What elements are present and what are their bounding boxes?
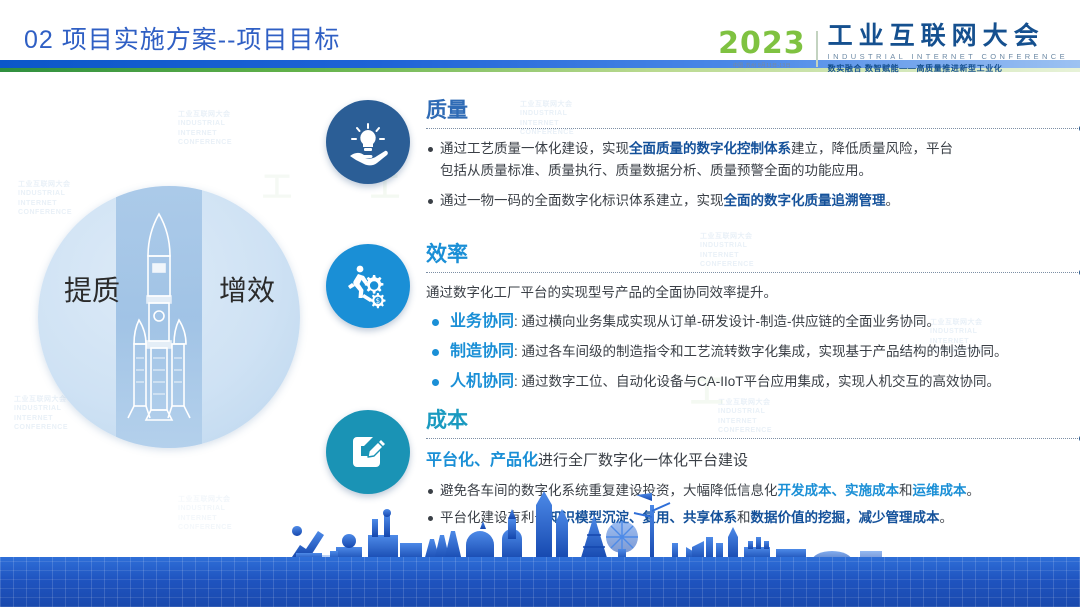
text-run: 包括从质量标准、质量执行、质量数据分析、质量预警全面的功能应用。 (440, 163, 872, 178)
item-sep: : (514, 344, 518, 359)
text-run: 通过一物一码的全面数字化标识体系建立，实现 (440, 193, 724, 208)
hero-label-right: 增效 (216, 274, 278, 308)
pencil-square-icon (326, 410, 410, 494)
slide-root: 工业互联网大会 INDUSTRIAL INTERNET CONFERENCE 工… (0, 0, 1080, 607)
list-item: 业务协同: 通过横向业务集成实现从订单-研发设计-制造-供应链的全面业务协同。 (426, 310, 1080, 334)
text-run-bold: 全面的数字化质量追溯管理 (724, 193, 886, 208)
logo-divider (816, 31, 818, 67)
hero-circle-bg: 提质 增效 (38, 186, 300, 448)
item-text: 通过各车间级的制造指令和工艺流转数字化集成，实现基于产品结构的制造协同。 (522, 344, 1008, 359)
bullet-continuation: 包括从质量标准、质量执行、质量数据分析、质量预警全面的功能应用。 (426, 161, 1080, 181)
page-title: 02 项目实施方案--项目目标 (24, 20, 340, 56)
logo-year-subtitle: 中国·苏州 9月11日-13日 (718, 62, 806, 69)
section-heading: 成本 (426, 410, 1080, 431)
logo-english-name: INDUSTRIAL INTERNET CONFERENCE (828, 52, 1068, 61)
item-sep: : (514, 314, 518, 329)
logo-slogan: 数实融合 数智赋能——高质量推进新型工业化 (828, 63, 1068, 74)
section-quality-body: 质量 通过工艺质量一体化建设，实现全面质量的数字化控制体系建立，降低质量风险，平… (426, 100, 1080, 213)
bullet-item: 通过工艺质量一体化建设，实现全面质量的数字化控制体系建立，降低质量风险，平台 (426, 139, 1080, 159)
item-lead: 人机协同 (450, 373, 514, 390)
item-text: 通过横向业务集成实现从订单-研发设计-制造-供应链的全面业务协同。 (522, 314, 941, 329)
svg-text:$: $ (376, 297, 380, 305)
text-run-bold: 平台化、产品化 (426, 452, 538, 469)
logo-chinese-name: 工业互联网大会 (828, 24, 1068, 49)
item-lead: 制造协同 (450, 343, 514, 360)
text-run-bold: 全面质量的数字化控制体系 (629, 141, 791, 156)
list-item: 人机协同: 通过数字工位、自动化设备与CA-IIoT平台应用集成，实现人机交互的… (426, 370, 1080, 394)
section-heading: 质量 (426, 100, 1080, 121)
bullet-item: 通过一物一码的全面数字化标识体系建立，实现全面的数字化质量追溯管理。 (426, 191, 1080, 211)
running-person-gears-icon: $ (326, 244, 410, 328)
section-heading: 效率 (426, 244, 1080, 265)
hero-circle: 提质 增效 (38, 186, 300, 448)
list-item: 制造协同: 通过各车间级的制造指令和工艺流转数字化集成，实现基于产品结构的制造协… (426, 340, 1080, 364)
item-lead: 业务协同 (450, 313, 514, 330)
hero-label-left: 提质 (62, 274, 122, 308)
text-run: 。 (886, 193, 900, 208)
logo-year: 2023 (718, 29, 806, 59)
text-run: 通过工艺质量一体化建设，实现 (440, 141, 629, 156)
text-run: 建立，降低质量风险，平台 (791, 141, 953, 156)
text-run: 进行全厂数字化一体化平台建设 (538, 452, 748, 469)
watermark: 工业互联网大会 INDUSTRIAL INTERNET CONFERENCE (178, 110, 232, 148)
conference-logo: 2023 中国·苏州 9月11日-13日 工业互联网大会 INDUSTRIAL … (718, 24, 1068, 74)
section-intro: 平台化、产品化进行全厂数字化一体化平台建设 (426, 449, 1080, 473)
hand-lightbulb-icon (326, 100, 410, 184)
item-sep: : (514, 374, 518, 389)
section-efficiency-body: 效率 通过数字化工厂平台的实现型号产品的全面协同效率提升。 业务协同: 通过横向… (426, 244, 1080, 396)
section-divider (426, 125, 1080, 133)
item-text: 通过数字工位、自动化设备与CA-IIoT平台应用集成，实现人机交互的高效协同。 (522, 374, 1001, 389)
rocket-icon (126, 208, 192, 426)
skyline-fade (0, 491, 300, 561)
ground-grid (0, 557, 1080, 607)
section-divider (426, 435, 1080, 443)
section-intro: 通过数字化工厂平台的实现型号产品的全面协同效率提升。 (426, 283, 1080, 303)
section-divider (426, 269, 1080, 277)
